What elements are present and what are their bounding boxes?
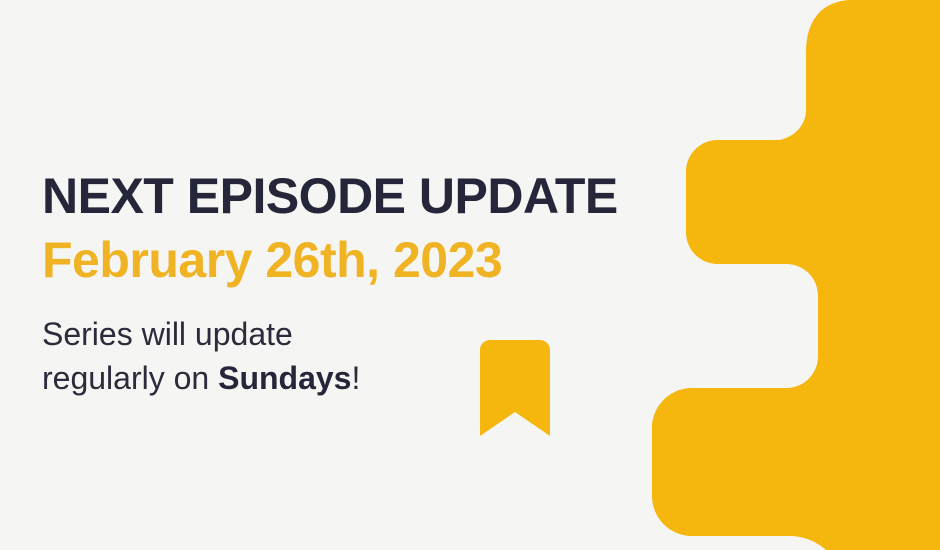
subtitle-line-2-suffix: ! (351, 360, 360, 396)
bookmark-icon (480, 340, 550, 436)
page-title: NEXT EPISODE UPDATE (42, 168, 682, 224)
subtitle-text: Series will updateregularly on Sundays! (42, 312, 360, 400)
subtitle-line-1: Series will update (42, 316, 293, 352)
text-block: NEXT EPISODE UPDATE February 26th, 2023 … (42, 168, 682, 400)
subtitle-line-2-prefix: regularly on (42, 360, 218, 396)
subtitle-emphasis-sundays: Sundays (218, 360, 351, 396)
episode-date: February 26th, 2023 (42, 232, 682, 288)
subtitle-row: Series will updateregularly on Sundays! (42, 312, 682, 400)
next-episode-update-banner: NEXT EPISODE UPDATE February 26th, 2023 … (0, 0, 940, 550)
